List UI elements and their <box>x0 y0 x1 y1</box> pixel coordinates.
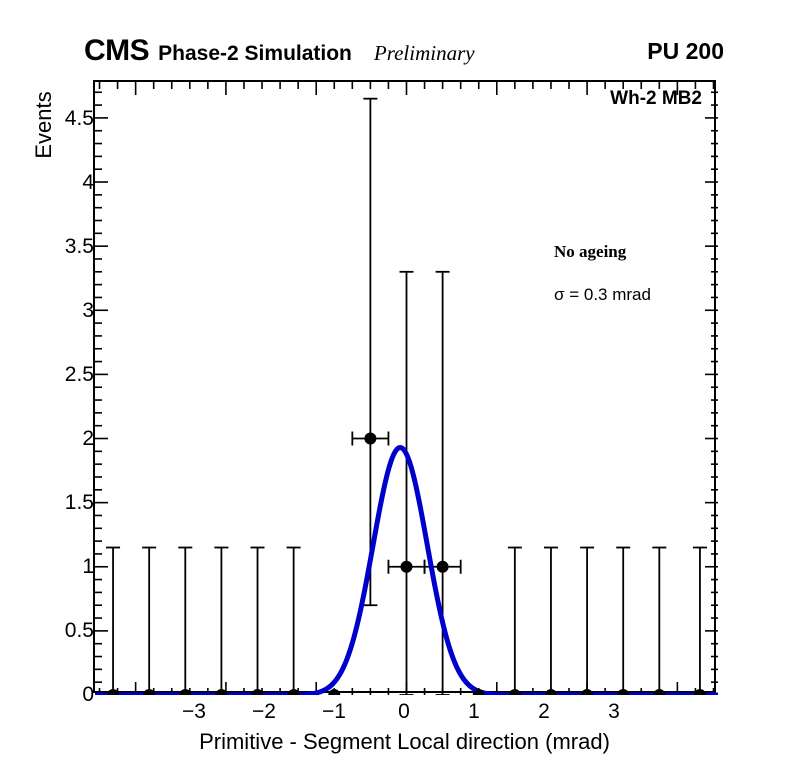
y-tick-label: 1 <box>34 555 94 579</box>
plot-frame: Wh-2 MB2 No ageing σ = 0.3 mrad <box>93 80 716 693</box>
y-tick-label: 0 <box>34 683 94 707</box>
plot-graphics <box>95 82 718 695</box>
y-tick-label: 0.5 <box>34 619 94 643</box>
simulation-label: Phase-2 Simulation <box>158 39 352 69</box>
y-tick-label: 4 <box>34 171 94 195</box>
x-tick-label: −3 <box>164 700 224 724</box>
y-tick-label: 2 <box>34 427 94 451</box>
cms-logo-text: CMS <box>84 36 149 66</box>
y-tick-label: 1.5 <box>34 491 94 515</box>
y-tick-label: 3.5 <box>34 235 94 259</box>
x-tick-label: −1 <box>304 700 364 724</box>
x-axis-title: Primitive - Segment Local direction (mra… <box>93 729 716 755</box>
x-tick-label: −2 <box>234 700 294 724</box>
ageing-annotation: No ageing <box>554 242 626 262</box>
plot-canvas: CMS Phase-2 Simulation Preliminary PU 20… <box>0 0 796 772</box>
y-tick-label: 3 <box>34 299 94 323</box>
x-tick-label: 3 <box>584 700 644 724</box>
y-tick-label: 4.5 <box>34 107 94 131</box>
x-tick-label: 2 <box>514 700 574 724</box>
plot-header: CMS Phase-2 Simulation Preliminary PU 20… <box>0 36 796 70</box>
y-tick-label: 2.5 <box>34 363 94 387</box>
cms-header-left: CMS Phase-2 Simulation Preliminary <box>84 36 475 69</box>
x-tick-label: 0 <box>374 700 434 724</box>
pileup-label: PU 200 <box>647 36 724 66</box>
preliminary-label: Preliminary <box>374 38 475 68</box>
error-bars <box>106 99 707 695</box>
sigma-annotation: σ = 0.3 mrad <box>554 285 651 305</box>
x-tick-label: 1 <box>444 700 504 724</box>
panel-label: Wh-2 MB2 <box>610 88 702 110</box>
